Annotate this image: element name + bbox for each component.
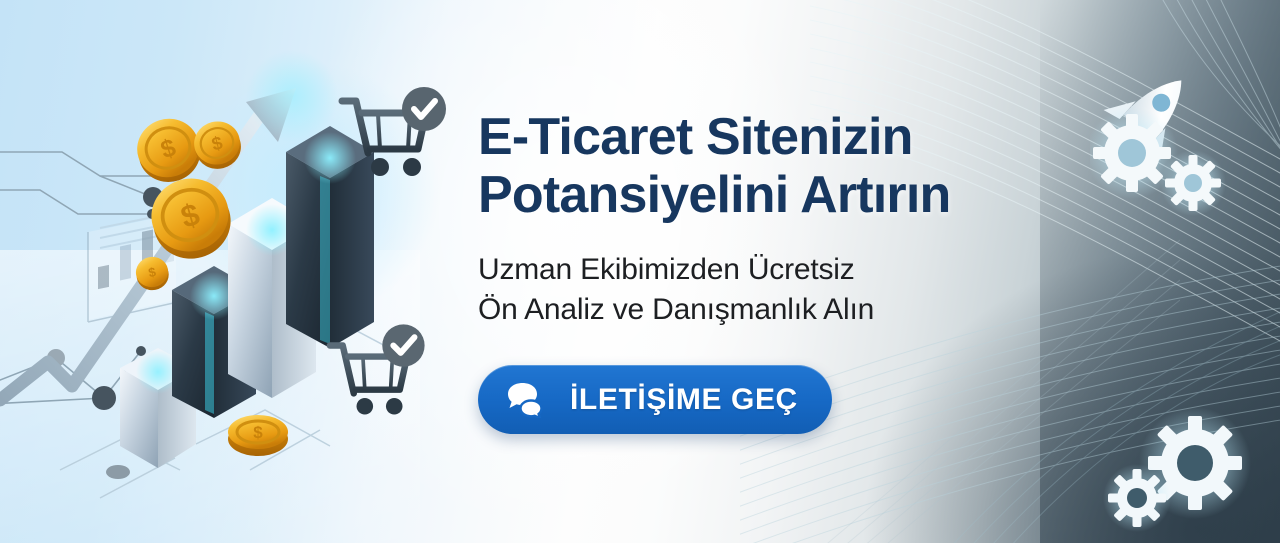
contact-cta-button[interactable]: İLETİŞİME GEÇ: [478, 365, 832, 434]
bar-chart-column-4: [286, 126, 374, 348]
chat-bubbles-icon: [506, 382, 552, 418]
banner-content: E-Ticaret Sitenizin Potansiyelini Artırı…: [478, 0, 1098, 543]
network-node-icon: [92, 386, 116, 410]
headline-line-2: Potansiyelini Artırın: [478, 166, 1078, 224]
cta-label: İLETİŞİME GEÇ: [570, 383, 798, 417]
gold-coin-icon: $: [190, 117, 246, 174]
cart-check-badge-icon: [402, 87, 446, 131]
subheadline-line-1: Uzman Ekibimizden Ücretsiz: [478, 253, 855, 286]
promo-banner: $ $ $ $ $: [0, 0, 1280, 543]
gear-icon: [1160, 150, 1226, 216]
gears-bottom-group: [1095, 405, 1280, 543]
network-node-icon: [136, 346, 146, 356]
subheadline-line-2: Ön Analiz ve Danışmanlık Alın: [478, 290, 1078, 330]
headline-line-1: E-Ticaret Sitenizin: [478, 108, 913, 166]
ecommerce-growth-illustration: $ $ $ $ $: [0, 0, 470, 543]
gold-coin-icon: $: [228, 415, 288, 456]
gear-icon: [1103, 464, 1171, 532]
rocket-gears-group: [1090, 45, 1280, 235]
network-node-icon: [106, 465, 130, 479]
svg-text:$: $: [253, 423, 263, 442]
banner-subtitle: Uzman Ekibimizden Ücretsiz Ön Analiz ve …: [478, 250, 1078, 330]
page-title: E-Ticaret Sitenizin Potansiyelini Artırı…: [478, 108, 1078, 224]
